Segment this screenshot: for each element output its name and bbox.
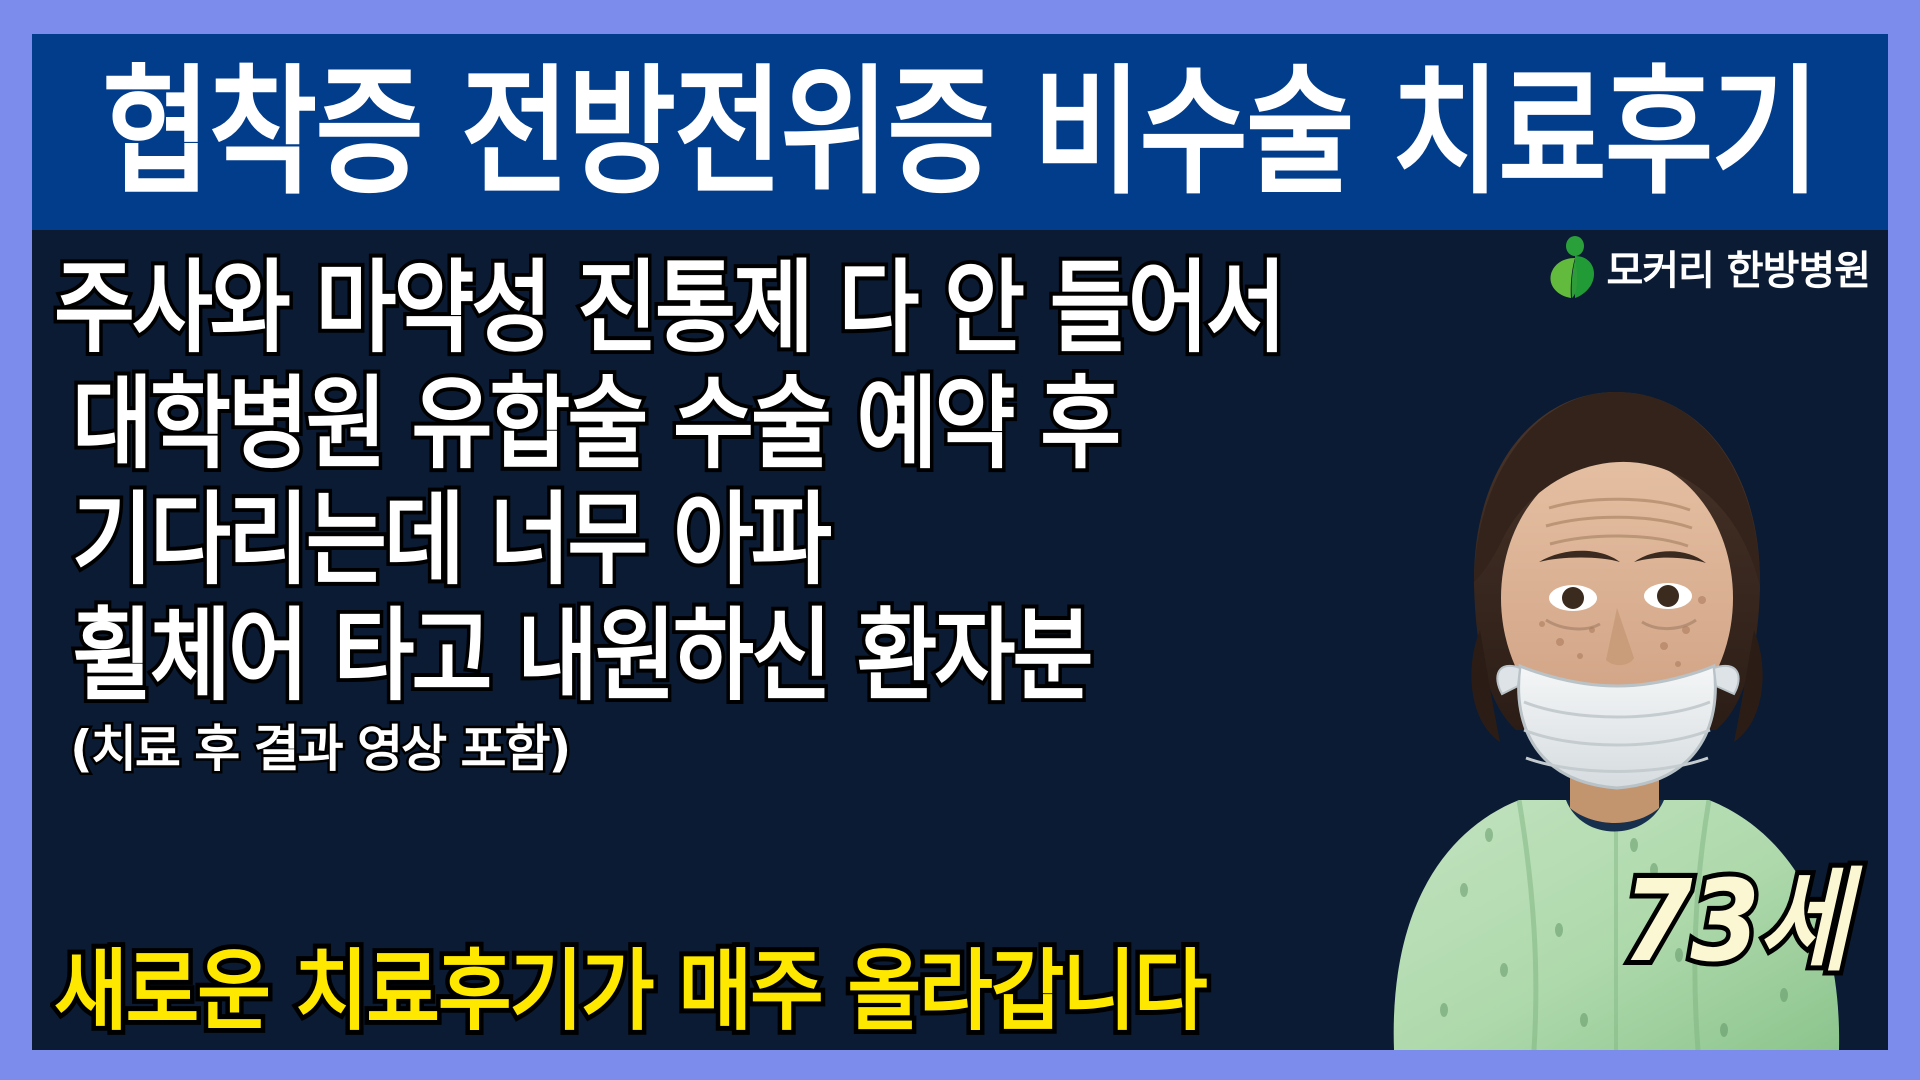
footer-text: 새로운 치료후기가 매주 올라갑니다: [54, 948, 1206, 1036]
age-badge: 73세: [1623, 866, 1848, 978]
title-banner: 협착증 전방전위증 비수술 치료후기: [32, 34, 1888, 230]
headline-line-4: 휠체어 타고 내원하신 환자분: [54, 606, 1474, 706]
hospital-logo: 모커리 한방병원: [1548, 236, 1870, 298]
headline-line-2: 대학병원 유합술 수술 예약 후: [54, 374, 1474, 474]
leaf-heart-icon: [1548, 236, 1594, 298]
headline-line-3: 기다리는데 너무 아파: [54, 490, 1474, 590]
content-body: 모커리 한방병원: [32, 230, 1888, 1050]
page-title: 협착증 전방전위증 비수술 치료후기: [102, 62, 1818, 201]
hospital-logo-name: 모커리 한방병원: [1606, 238, 1870, 296]
headline-note: (치료 후 결과 영상 포함): [54, 724, 1474, 774]
headline-block: 주사와 마약성 진통제 다 안 들어서 대학병원 유합술 수술 예약 후 기다리…: [54, 258, 1474, 774]
headline-line-1: 주사와 마약성 진통제 다 안 들어서: [54, 258, 1474, 358]
footer-banner: 새로운 치료후기가 매주 올라갑니다: [54, 956, 1206, 1036]
thumbnail-root: 협착증 전방전위증 비수술 치료후기 모커리 한방병원: [0, 0, 1920, 1080]
